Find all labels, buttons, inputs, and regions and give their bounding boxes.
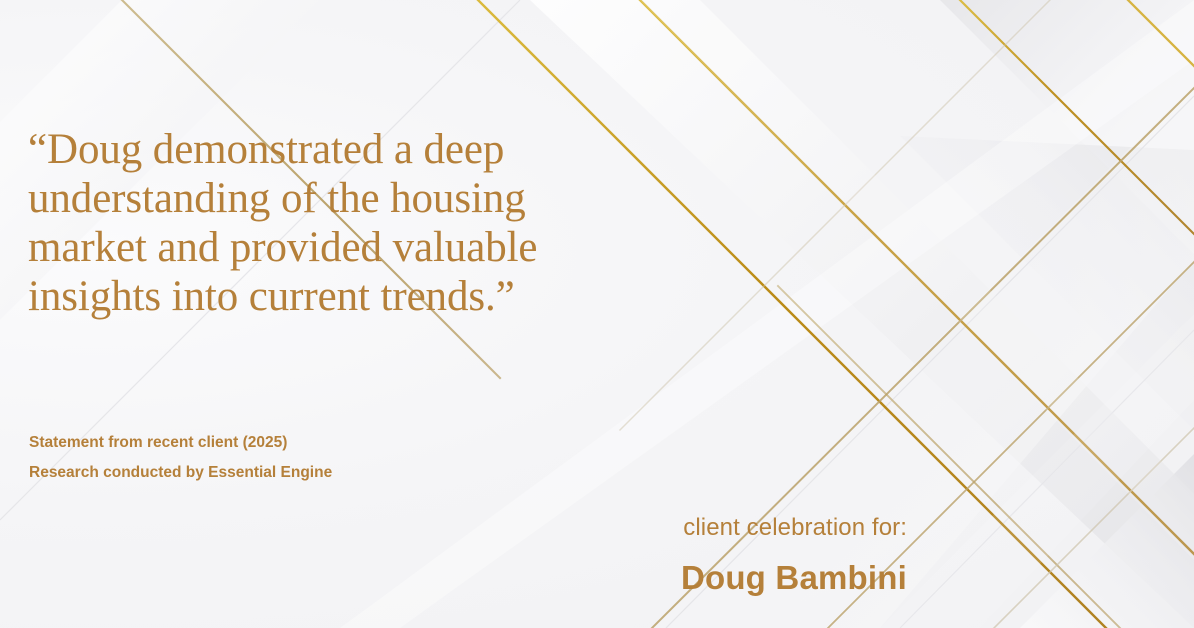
attribution-block: Statement from recent client (2025) Rese… [29, 428, 332, 488]
client-celebration-card: “Doug demonstrated a deep understanding … [0, 0, 1194, 628]
celebration-label: client celebration for: [0, 511, 907, 545]
testimonial-quote: “Doug demonstrated a deep understanding … [28, 125, 648, 321]
attribution-line-research: Research conducted by Essential Engine [29, 458, 332, 488]
attribution-line-statement: Statement from recent client (2025) [29, 428, 332, 458]
celebration-block: client celebration for: Doug Bambini [0, 511, 907, 601]
celebration-honoree-name: Doug Bambini [0, 555, 907, 601]
